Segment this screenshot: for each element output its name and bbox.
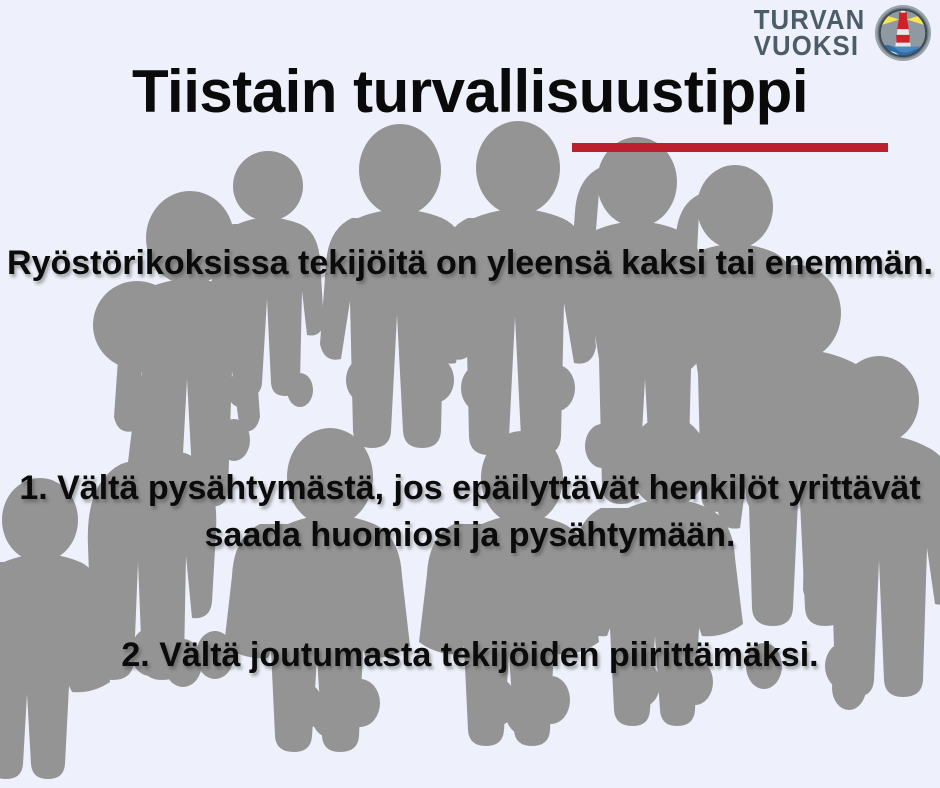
turvan-vuoksi-logo: TURVAN VUOKSI (744, 4, 932, 62)
silhouette-figure (670, 165, 819, 512)
page-title: Tiistain turvallisuustippi (0, 62, 940, 122)
logo-line-1: TURVAN (753, 7, 865, 33)
safety-tip-poster: TURVAN VUOKSI Tiistain turval (0, 0, 940, 788)
silhouette-figure (566, 416, 743, 726)
title-underline (572, 143, 888, 152)
tip-item-2: 2. Vältä joutumasta tekijöiden piirittäm… (0, 632, 940, 679)
silhouette-figure (434, 121, 596, 455)
silhouette-figure (569, 137, 728, 504)
tip-item-1: 1. Vältä pysähtymästä, jos epäilyttävät … (0, 465, 940, 559)
intro-paragraph: Ryöstörikoksissa tekijöitä on yleensä ka… (0, 240, 940, 287)
silhouette-figure (114, 191, 260, 507)
logo-wordmark: TURVAN VUOKSI (753, 7, 865, 59)
lighthouse-emblem-icon (874, 4, 932, 62)
logo-line-2: VUOKSI (753, 33, 858, 59)
